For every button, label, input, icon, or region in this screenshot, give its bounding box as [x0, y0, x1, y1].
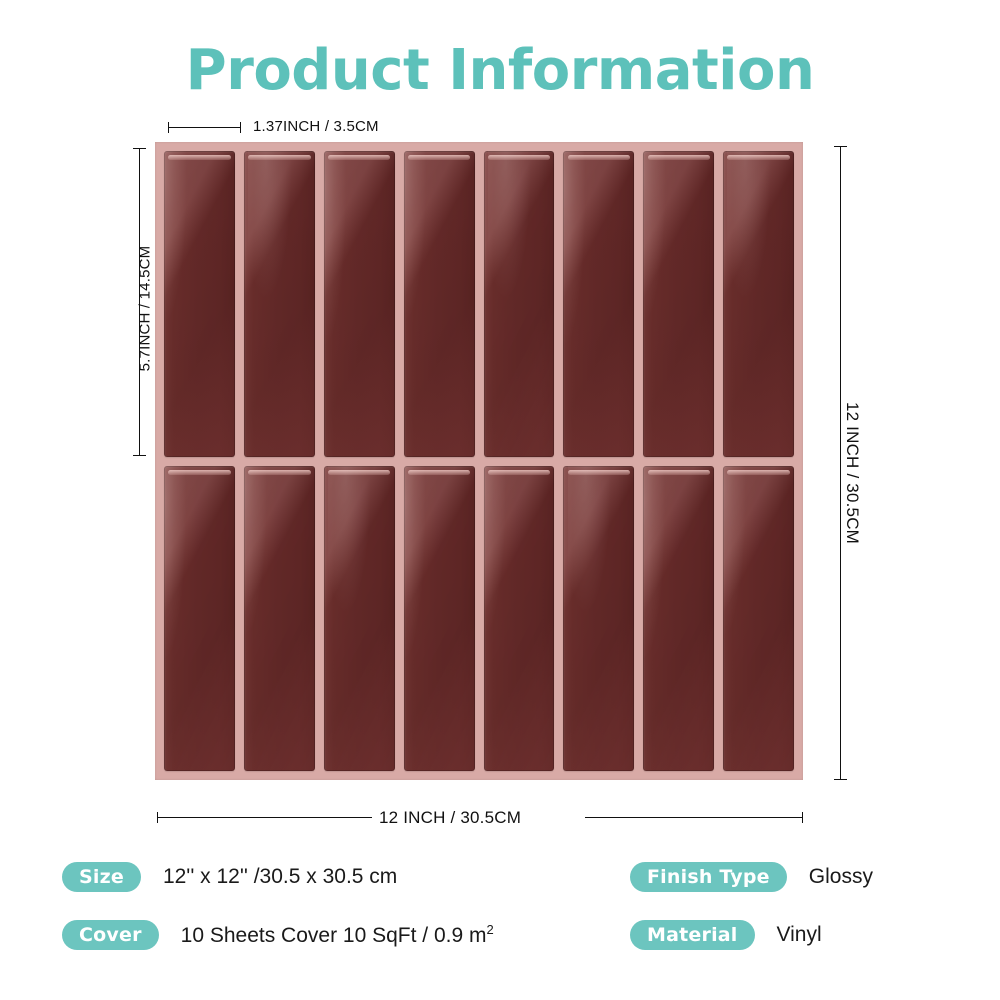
sheet-width-cap-right — [802, 812, 803, 823]
sheet-height-cap-bottom — [834, 779, 847, 780]
tile-r1c6 — [563, 151, 634, 457]
tile-r1c8 — [723, 151, 794, 457]
spec-value-cover-superscript: 2 — [486, 922, 493, 937]
tile-width-dimension-line — [168, 127, 241, 128]
sheet-height-dimension-line — [840, 146, 841, 780]
tile-r2c1 — [164, 466, 235, 772]
tile-r1c7 — [643, 151, 714, 457]
sheet-width-label: 12 INCH / 30.5CM — [379, 808, 521, 828]
sheet-height-label: 12 INCH / 30.5CM — [842, 333, 862, 613]
spec-value-cover-text: 10 Sheets Cover 10 SqFt / 0.9 m — [181, 924, 487, 947]
tile-height-label: 5.7INCH / 14.5CM — [137, 159, 154, 459]
tile-r1c5 — [484, 151, 555, 457]
sheet-width-dimension-line-left — [157, 817, 372, 818]
spec-row-size: Size 12'' x 12'' /30.5 x 30.5 cm — [62, 862, 397, 892]
tile-r2c8 — [723, 466, 794, 772]
spec-label-material: Material — [630, 920, 755, 950]
tile-r1c4 — [404, 151, 475, 457]
page-title: Product Information — [0, 38, 1000, 103]
spec-value-cover: 10 Sheets Cover 10 SqFt / 0.9 m2 — [181, 922, 494, 948]
tile-width-cap-left — [168, 122, 169, 133]
tile-r1c3 — [324, 151, 395, 457]
sheet-width-dimension-line-right — [585, 817, 803, 818]
tile-width-cap-right — [240, 122, 241, 133]
tile-r2c3 — [324, 466, 395, 772]
sheet-height-cap-top — [834, 146, 847, 147]
spec-label-size: Size — [62, 862, 141, 892]
tile-width-label: 1.37INCH / 3.5CM — [253, 118, 379, 135]
tile-r2c2 — [244, 466, 315, 772]
spec-row-finish-type: Finish Type Glossy — [630, 862, 873, 892]
tile-height-cap-top — [133, 148, 146, 149]
tile-r2c6 — [563, 466, 634, 772]
tile-r2c5 — [484, 466, 555, 772]
spec-value-finish-type: Glossy — [809, 865, 873, 889]
tile-r1c1 — [164, 151, 235, 457]
tile-r1c2 — [244, 151, 315, 457]
spec-row-cover: Cover 10 Sheets Cover 10 SqFt / 0.9 m2 — [62, 920, 494, 950]
spec-label-finish-type: Finish Type — [630, 862, 787, 892]
spec-label-cover: Cover — [62, 920, 159, 950]
sheet-width-cap-left — [157, 812, 158, 823]
tile-r2c7 — [643, 466, 714, 772]
product-tile-panel — [155, 142, 803, 780]
spec-value-size: 12'' x 12'' /30.5 x 30.5 cm — [163, 865, 397, 889]
spec-value-material: Vinyl — [777, 923, 822, 947]
tile-r2c4 — [404, 466, 475, 772]
spec-row-material: Material Vinyl — [630, 920, 822, 950]
spec-list: Size 12'' x 12'' /30.5 x 30.5 cm Cover 1… — [0, 862, 1000, 982]
